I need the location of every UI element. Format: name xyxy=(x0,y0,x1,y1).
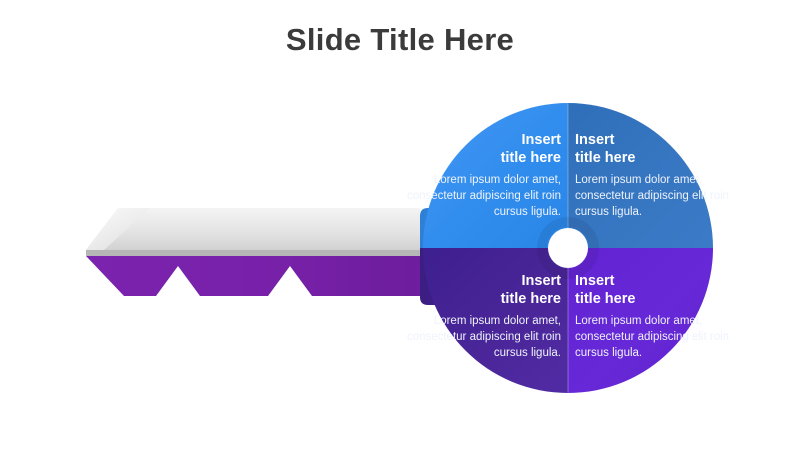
quadrant-body-bottom-right: Lorem ipsum dolor amet, consectetur adip… xyxy=(575,314,732,361)
quadrant-title-top-left: Insert title here xyxy=(404,132,561,167)
slide-canvas: Slide Title Here xyxy=(0,0,800,450)
key-center-hole xyxy=(548,228,588,268)
quadrant-title-top-right: Insert title here xyxy=(575,132,732,167)
quadrant-text-top-left: Insert title here Lorem ipsum dolor amet… xyxy=(404,132,561,221)
quadrant-body-bottom-left: Lorem ipsum dolor amet, consectetur adip… xyxy=(404,314,561,361)
key-blade-group xyxy=(86,208,420,296)
quadrant-title-bottom-left: Insert title here xyxy=(404,273,561,308)
quadrant-text-top-right: Insert title here Lorem ipsum dolor amet… xyxy=(575,132,732,221)
key-shaft-stripe xyxy=(86,250,420,256)
key-shape-svg xyxy=(0,0,800,450)
quadrant-body-top-left: Lorem ipsum dolor amet, consectetur adip… xyxy=(404,173,561,220)
key-infographic: Insert title here Lorem ipsum dolor amet… xyxy=(0,0,800,450)
quadrant-text-bottom-right: Insert title here Lorem ipsum dolor amet… xyxy=(575,273,732,362)
key-blade-teeth xyxy=(86,256,420,296)
quadrant-title-bottom-right: Insert title here xyxy=(575,273,732,308)
quadrant-body-top-right: Lorem ipsum dolor amet, consectetur adip… xyxy=(575,173,732,220)
quadrant-text-bottom-left: Insert title here Lorem ipsum dolor amet… xyxy=(404,273,561,362)
